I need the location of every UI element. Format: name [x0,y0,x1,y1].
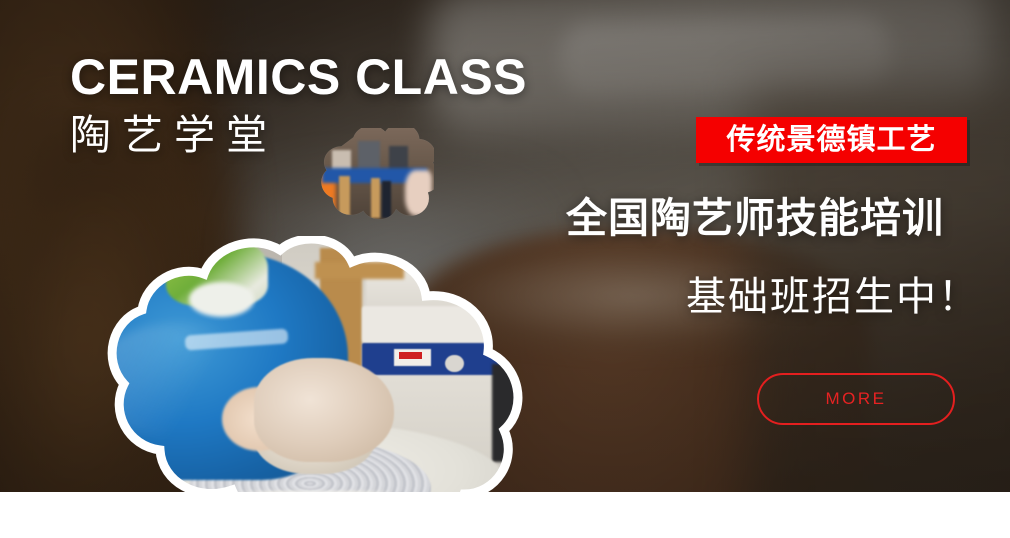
tradition-badge: 传统景德镇工艺 [696,117,967,163]
tools-photo-content [312,128,434,220]
cloud-photo-pottery-wheel [68,236,534,526]
bottom-white-strip [0,492,1010,538]
headline-secondary: 基础班招生中！ [686,277,980,317]
title-english: CERAMICS CLASS [70,52,527,102]
ceramics-class-banner: CERAMICS CLASS 陶艺学堂 [0,0,1010,538]
tradition-badge-label: 传统景德镇工艺 [726,126,936,155]
title-chinese: 陶艺学堂 [70,112,278,159]
more-button[interactable]: MORE [757,373,955,425]
headline-primary: 全国陶艺师技能培训 [566,198,944,239]
cloud-mask-large [68,236,534,526]
pottery-wheel-photo-content [68,236,534,526]
cloud-photo-tools [312,128,434,220]
cloud-mask-small [312,128,434,220]
